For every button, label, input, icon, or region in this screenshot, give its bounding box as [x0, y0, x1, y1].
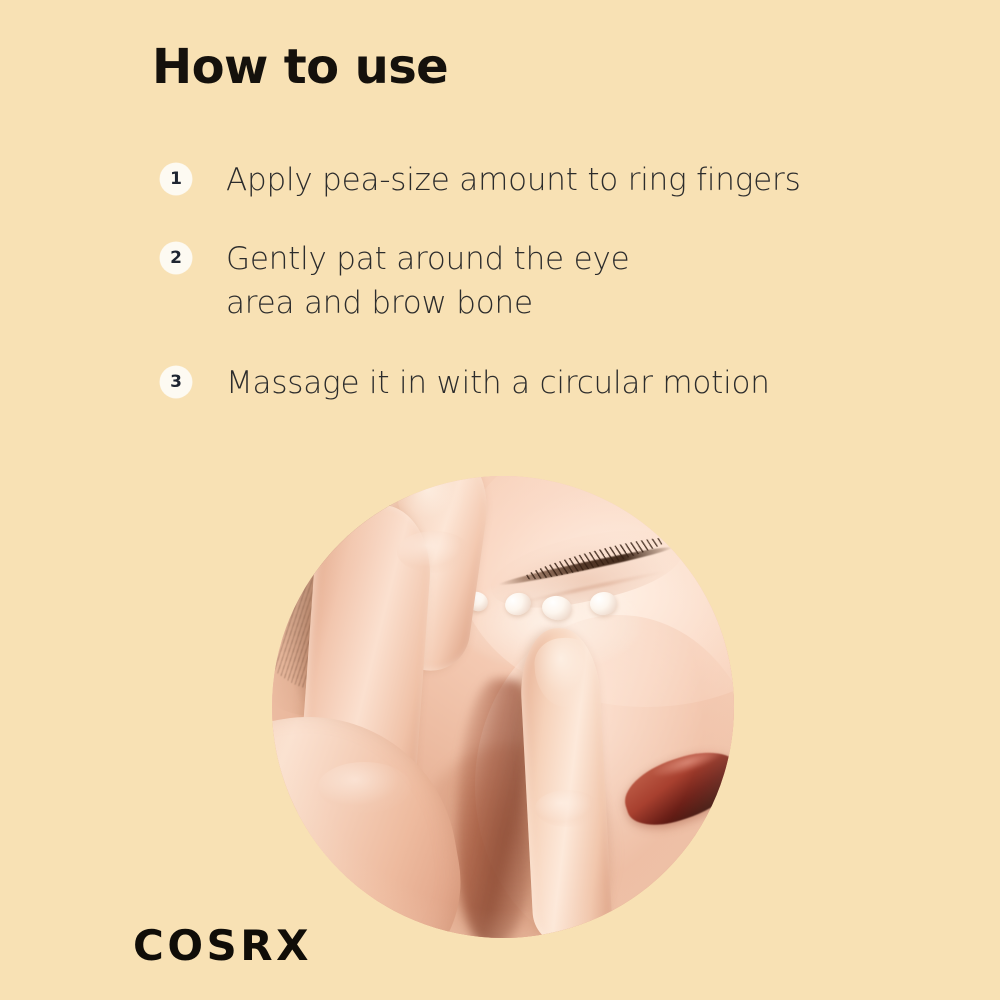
list-item: 2 Gently pat around the eye area and bro… [160, 237, 920, 325]
step-number-badge-3: 3 [160, 366, 192, 398]
step-number-badge-1: 1 [160, 163, 192, 195]
step-text-1: Apply pea-size amount to ring fingers [226, 158, 801, 202]
step-number-badge-2: 2 [160, 242, 192, 274]
photo-artwork [272, 476, 734, 938]
step-text-3: Massage it in with a circular motion [226, 361, 770, 405]
eye-cream-application-photo [272, 476, 734, 938]
knuckle [318, 762, 410, 813]
cosrx-logo: COSRX [133, 925, 312, 967]
page-title: How to use [152, 40, 448, 95]
step-text-line: Apply pea-size amount to ring fingers [226, 158, 801, 202]
steps-list: 1 Apply pea-size amount to ring fingers … [160, 158, 920, 405]
step-text-line: Gently pat around the eye [226, 237, 629, 281]
step-text-line: Massage it in with a circular motion [226, 361, 770, 405]
knuckle [535, 790, 600, 827]
knuckle [397, 531, 471, 573]
list-item: 1 Apply pea-size amount to ring fingers [160, 158, 920, 202]
step-text-2: Gently pat around the eye area and brow … [226, 237, 629, 325]
list-item: 3 Massage it in with a circular motion [160, 361, 920, 405]
step-text-line: area and brow bone [226, 281, 629, 325]
how-to-use-poster: How to use 1 Apply pea-size amount to ri… [0, 0, 1000, 1000]
